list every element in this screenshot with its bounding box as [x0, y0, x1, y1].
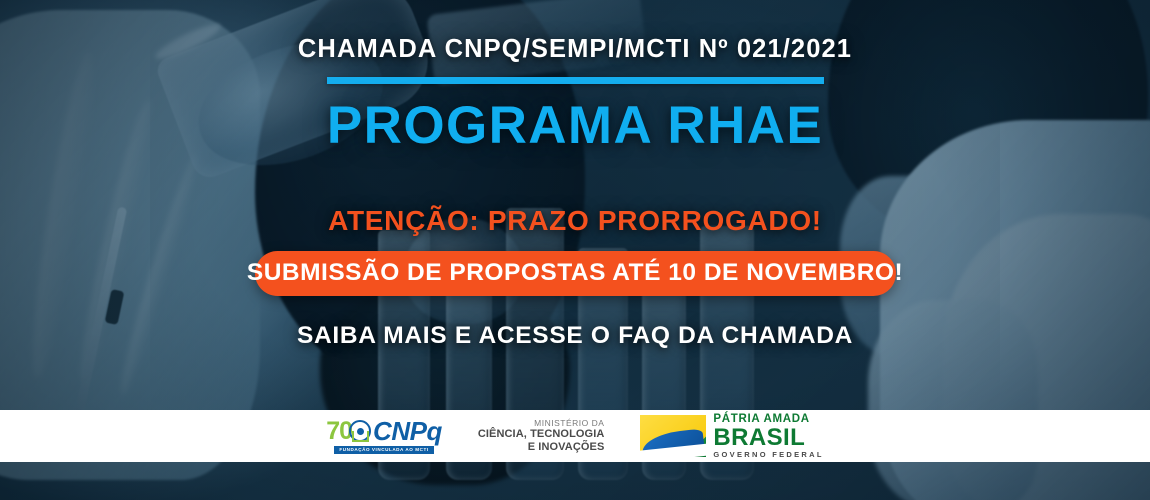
ministry-line-1: MINISTÉRIO DA	[478, 418, 605, 428]
brasil-line-2: BRASIL	[713, 425, 823, 450]
brazil-flag-icon	[640, 415, 706, 457]
cnpq-tagline: FUNDAÇÃO VINCULADA AO MCTI	[334, 446, 433, 454]
brasil-line-3: GOVERNO FEDERAL	[713, 451, 823, 459]
institutional-logo-bar: 70 CNPq FUNDAÇÃO VINCULADA AO MCTI MINIS…	[0, 410, 1150, 462]
call-reference-kicker: CHAMADA CNPQ/SEMPI/MCTI Nº 021/2021	[298, 37, 852, 63]
cyan-divider-rule	[327, 77, 824, 84]
cnpq-logo-row: 70 CNPq	[326, 418, 442, 444]
cnpq-logo[interactable]: 70 CNPq FUNDAÇÃO VINCULADA AO MCTI	[326, 418, 442, 454]
deadline-alert-text: ATENÇÃO: PRAZO PRORROGADO!	[328, 207, 822, 235]
submission-deadline-button[interactable]: SUBMISSÃO DE PROPOSTAS ATÉ 10 DE NOVEMBR…	[255, 251, 896, 296]
ministry-logo[interactable]: MINISTÉRIO DA CIÊNCIA, TECNOLOGIA E INOV…	[478, 418, 605, 454]
cnpq-wordmark: CNPq	[373, 418, 442, 444]
brasil-wordmark: PÁTRIA AMADA BRASIL GOVERNO FEDERAL	[713, 414, 823, 458]
program-title: PROGRAMA RHAE	[327, 99, 823, 152]
submission-deadline-label: SUBMISSÃO DE PROPOSTAS ATÉ 10 DE NOVEMBR…	[247, 261, 903, 286]
cnpq-emblem-icon	[349, 420, 371, 442]
ministry-line-2: CIÊNCIA, TECNOLOGIA	[478, 428, 605, 441]
faq-link-text[interactable]: SAIBA MAIS E ACESSE O FAQ DA CHAMADA	[297, 324, 853, 349]
banner-content: CHAMADA CNPQ/SEMPI/MCTI Nº 021/2021 PROG…	[0, 0, 1150, 410]
rhae-promotional-banner: CHAMADA CNPQ/SEMPI/MCTI Nº 021/2021 PROG…	[0, 0, 1150, 500]
ministry-line-3: E INOVAÇÕES	[478, 441, 605, 454]
patria-amada-brasil-logo[interactable]: PÁTRIA AMADA BRASIL GOVERNO FEDERAL	[640, 414, 823, 458]
